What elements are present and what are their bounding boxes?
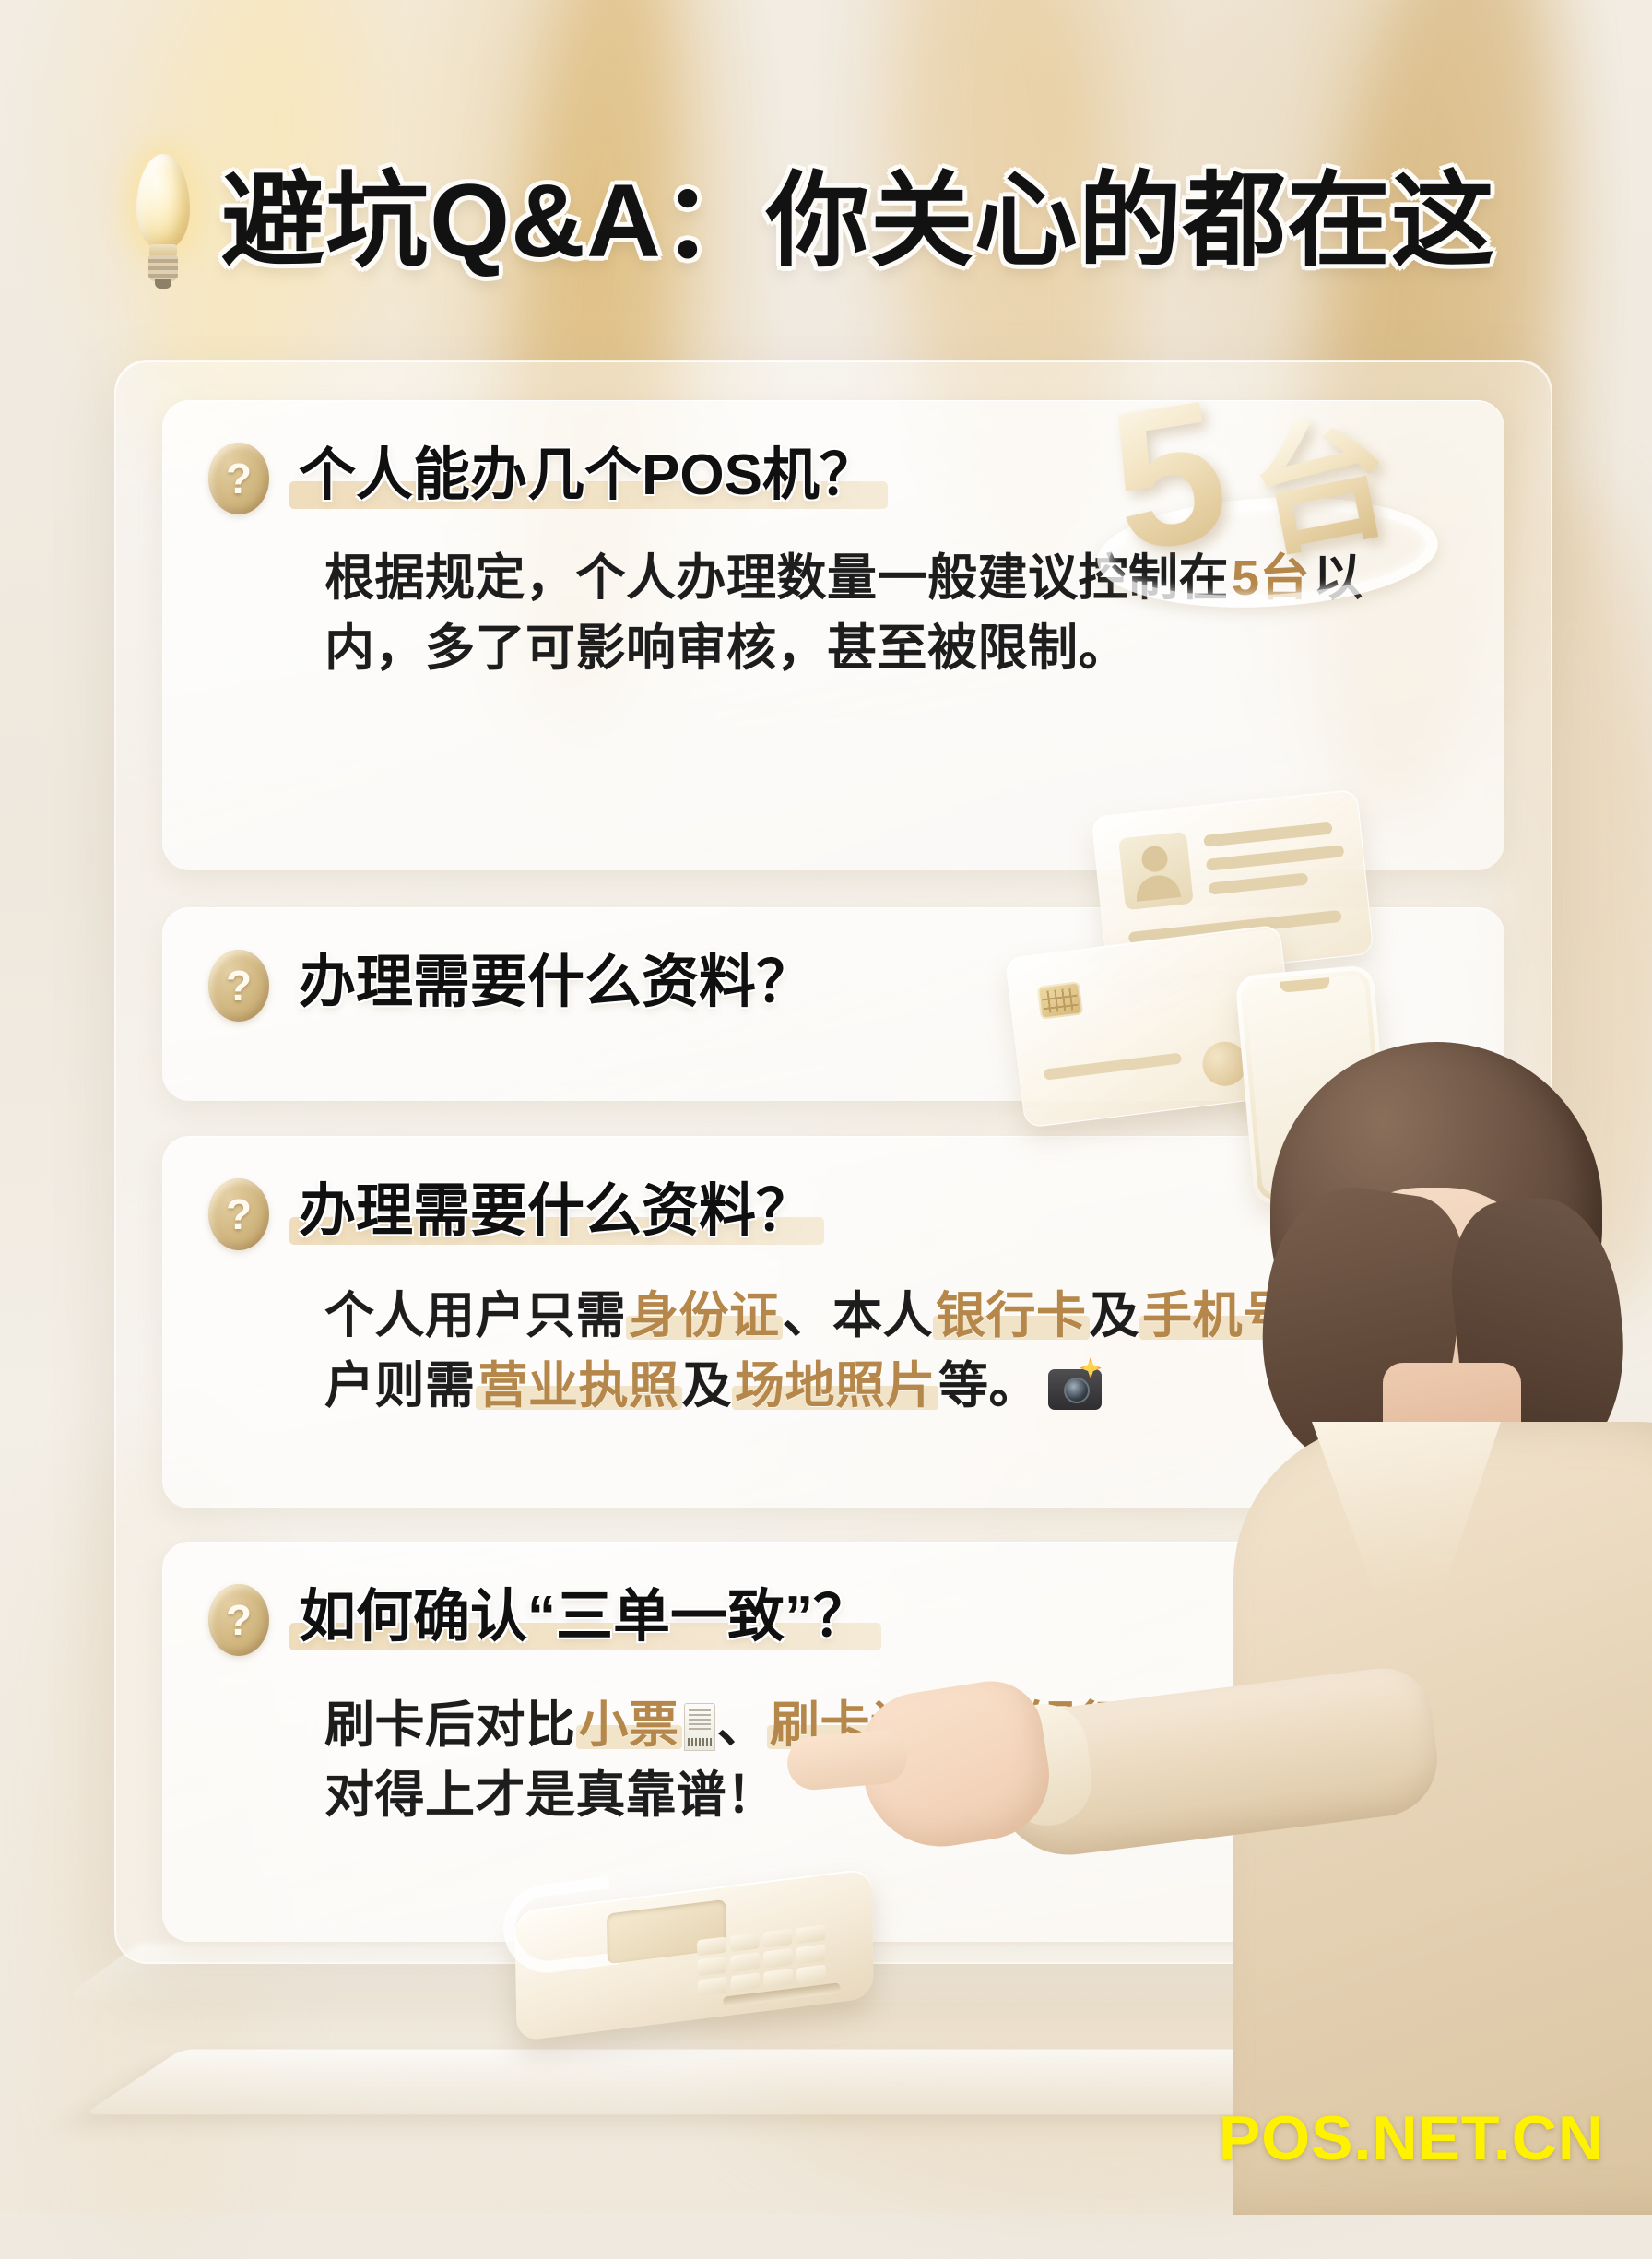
lightbulb-glass [136,154,190,250]
id-line [1203,822,1333,847]
answer-segment: 个人用户只需 [324,1288,626,1343]
question-row: ? 办理需要什么资料？ [208,1177,822,1250]
answer-segment: 刷卡后对比 [324,1697,576,1753]
answer-segment: 、本人 [783,1288,934,1343]
answer-segment: 及 [682,1358,733,1413]
person-illustration [922,1005,1652,2213]
art-char-tai: 台 [1240,405,1402,567]
question-text: 个人能办几个POS机？ [289,441,886,511]
answer-highlight: 营业执照 [476,1358,682,1413]
question-mark-icon: ? [208,443,269,514]
pos-terminal-3d-art [505,1863,948,2093]
question-row: ? 个人能办几个POS机？ [208,441,886,514]
question-mark-icon: ? [208,1178,269,1250]
question-text: 如何确认“三单一致”？ [289,1582,879,1652]
site-watermark: POS.NET.CN [1219,2102,1604,2174]
id-photo [1118,832,1194,910]
answer-highlight: 身份证 [626,1288,783,1343]
question-text: 办理需要什么资料？ [289,948,822,1018]
question-text: 办理需要什么资料？ [289,1177,822,1247]
page-title-row: 避坑Q&A：你关心的都在这 [129,138,1567,304]
five-units-3d-art: 5 台 [1088,369,1475,618]
answer-segment: 、 [717,1697,768,1753]
id-line [1206,845,1345,871]
page-title: 避坑Q&A：你关心的都在这 [221,170,1495,273]
answer-highlight: 场地照片 [732,1358,938,1413]
question-mark-icon: ? [208,950,269,1022]
lightbulb-tip [155,279,171,289]
question-row: ? 办理需要什么资料？ [208,948,822,1022]
question-mark-icon: ? [208,1584,269,1656]
lightbulb-icon [129,152,197,290]
lightbulb-base [148,255,178,281]
id-line [1209,872,1309,894]
question-row: ? 如何确认“三单一致”？ [208,1582,879,1656]
receipt-icon [684,1703,715,1751]
answer-highlight: 小票 [576,1697,682,1753]
